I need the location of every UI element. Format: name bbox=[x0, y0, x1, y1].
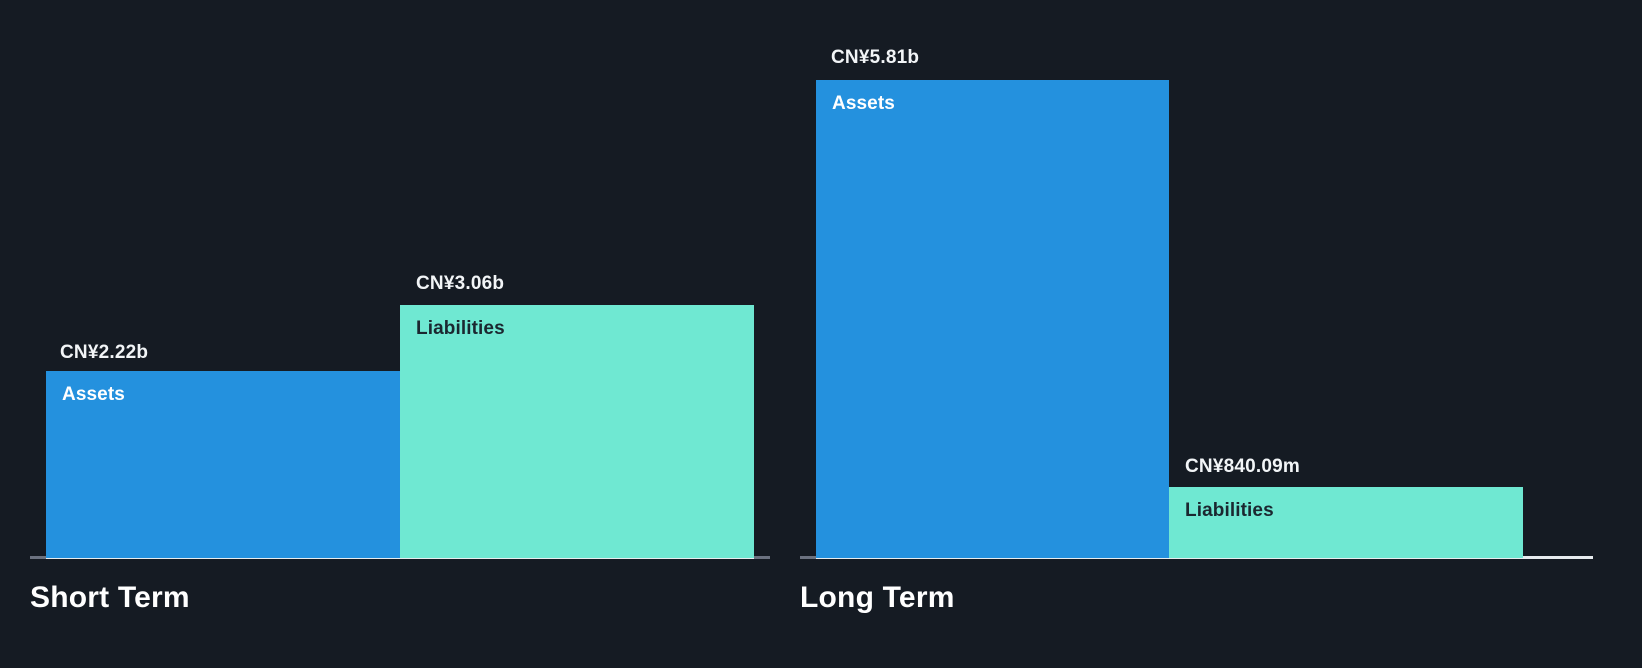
value-label-short-term-assets: CN¥2.22b bbox=[60, 342, 148, 364]
value-label-long-term-assets: CN¥5.81b bbox=[831, 47, 919, 69]
category-label-short-term: Short Term bbox=[30, 581, 190, 615]
series-label-short-term-assets: Assets bbox=[62, 384, 125, 406]
bar-short-term-liabilities[interactable]: Liabilities bbox=[400, 305, 754, 558]
bar-long-term-assets[interactable]: Assets bbox=[816, 80, 1169, 558]
category-label-long-term: Long Term bbox=[800, 581, 955, 615]
value-label-long-term-liabilities: CN¥840.09m bbox=[1185, 456, 1300, 478]
chart-panel-short-term: CN¥2.22b Assets CN¥3.06b Liabilities Sho… bbox=[0, 0, 805, 668]
value-label-short-term-liabilities: CN¥3.06b bbox=[416, 273, 504, 295]
series-label-short-term-liabilities: Liabilities bbox=[416, 318, 505, 340]
bar-short-term-assets[interactable]: Assets bbox=[46, 371, 400, 558]
series-label-long-term-liabilities: Liabilities bbox=[1185, 500, 1274, 522]
series-label-long-term-assets: Assets bbox=[832, 93, 895, 115]
bar-long-term-liabilities[interactable]: Liabilities bbox=[1169, 487, 1523, 558]
financial-position-chart: CN¥2.22b Assets CN¥3.06b Liabilities Sho… bbox=[0, 0, 1642, 668]
chart-panel-long-term: CN¥5.81b Assets CN¥840.09m Liabilities L… bbox=[800, 0, 1642, 668]
